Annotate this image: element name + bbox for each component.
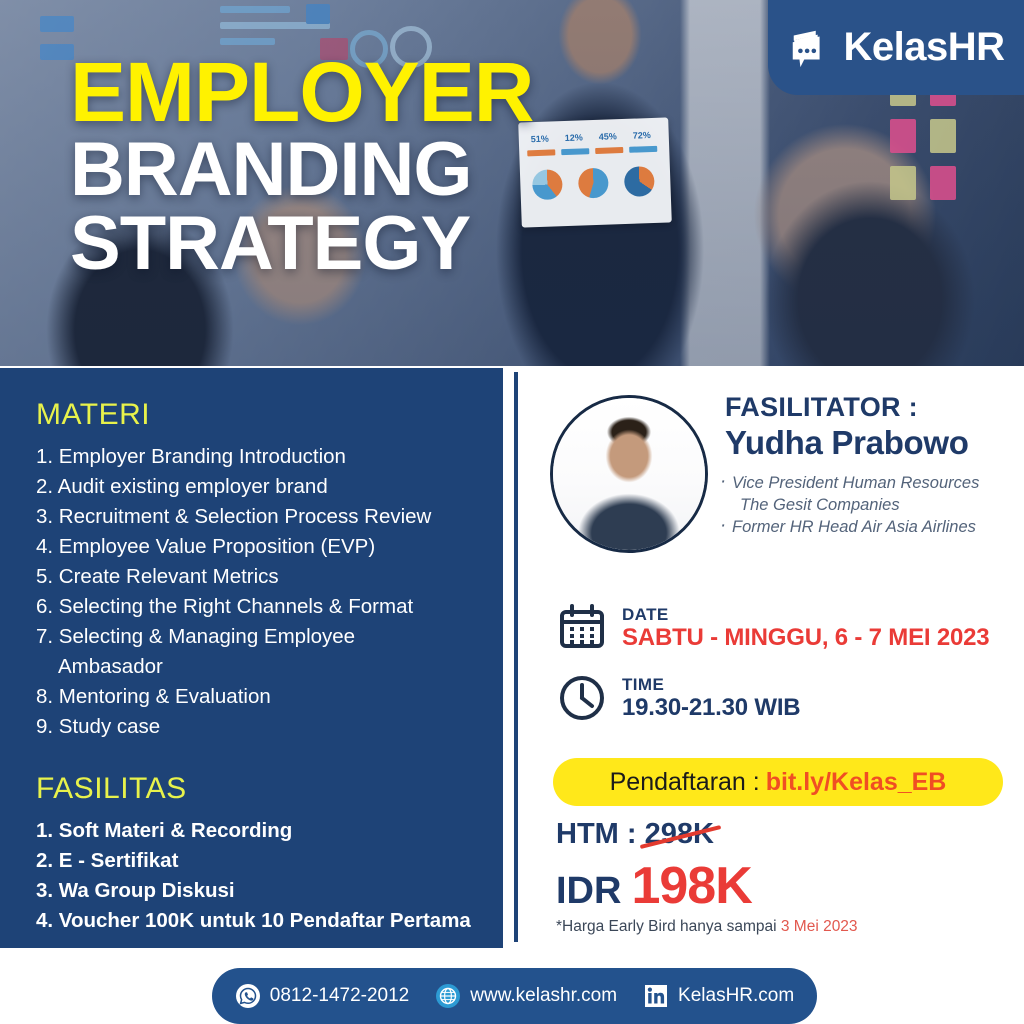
panel-divider <box>514 372 518 942</box>
list-item: 3. Recruitment & Selection Process Revie… <box>36 502 498 532</box>
avatar-image <box>553 398 705 550</box>
hero-banner: 51% 12% 45% 72% EMPLOYER BRANDING STRATE… <box>0 0 1024 366</box>
fasilitas-list: 1. Soft Materi & Recording 2. E - Sertif… <box>36 816 498 936</box>
list-item: 1. Soft Materi & Recording <box>36 816 498 846</box>
list-item: 2. E - Sertifikat <box>36 846 498 876</box>
contact-whatsapp[interactable]: 0812-1472-2012 <box>235 983 409 1009</box>
brand-logo-badge: KelasHR <box>768 0 1024 95</box>
right-content-panel: FASILITATOR : Yudha Prabowo Vice Preside… <box>520 368 1024 948</box>
note-date: 3 Mei 2023 <box>781 918 858 935</box>
registration-link[interactable]: bit.ly/Kelas_EB <box>766 768 947 797</box>
date-label: DATE <box>622 605 989 624</box>
list-item: 9. Study case <box>36 712 498 742</box>
facilitator-avatar <box>550 395 708 553</box>
hero-chart-card: 51% 12% 45% 72% <box>518 117 672 227</box>
facilitator-name: Yudha Prabowo <box>725 424 969 462</box>
sticky-note <box>890 119 916 153</box>
credential-line: Vice President Human Resources <box>720 472 1020 494</box>
htm-old-value: 298K <box>645 818 714 851</box>
facilitator-credentials: Vice President Human Resources The Gesit… <box>720 472 1020 538</box>
hero-title-line3: STRATEGY <box>70 209 533 279</box>
early-bird-note: *Harga Early Bird hanya sampai 3 Mei 202… <box>556 918 858 936</box>
sticky-note <box>930 119 956 153</box>
time-value: 19.30-21.30 WIB <box>622 694 800 721</box>
registration-label: Pendaftaran : <box>610 768 760 797</box>
sticky-note <box>890 166 916 200</box>
list-item: 1. Employer Branding Introduction <box>36 442 498 472</box>
website-url: www.kelashr.com <box>470 985 617 1007</box>
list-item: 2. Audit existing employer brand <box>36 472 498 502</box>
linkedin-handle: KelasHR.com <box>678 985 794 1007</box>
globe-icon <box>435 983 461 1009</box>
poster: 51% 12% 45% 72% EMPLOYER BRANDING STRATE… <box>0 0 1024 1024</box>
current-price: IDR 198K <box>556 856 752 916</box>
whatsapp-icon <box>235 983 261 1009</box>
brand-logo-text: KelasHR <box>843 25 1004 70</box>
registration-pill[interactable]: Pendaftaran : bit.ly/Kelas_EB <box>553 758 1003 806</box>
list-item: 6. Selecting the Right Channels & Format <box>36 592 498 622</box>
hero-title-line1: EMPLOYER <box>70 54 533 131</box>
book-chat-icon <box>787 25 833 71</box>
contact-footer: 0812-1472-2012 www.kelashr.com <box>212 968 817 1024</box>
list-item: 7. Selecting & Managing Employee <box>36 622 498 652</box>
list-item: 8. Mentoring & Evaluation <box>36 682 498 712</box>
materi-list: 1. Employer Branding Introduction 2. Aud… <box>36 442 498 742</box>
list-item: 4. Voucher 100K untuk 10 Pendaftar Perta… <box>36 906 498 936</box>
calendar-icon <box>556 602 608 654</box>
clock-icon <box>556 672 608 724</box>
currency-label: IDR <box>556 870 621 913</box>
note-prefix: *Harga Early Bird hanya sampai <box>556 918 781 935</box>
htm-label: HTM : <box>556 818 645 850</box>
list-item-continuation: Ambasador <box>36 652 498 682</box>
date-value: SABTU - MINGGU, 6 - 7 MEI 2023 <box>622 624 989 651</box>
fasilitas-heading: FASILITAS <box>36 772 187 806</box>
credential-line-cont: The Gesit Companies <box>720 494 1020 516</box>
phone-number: 0812-1472-2012 <box>270 985 409 1007</box>
linkedin-icon <box>643 983 669 1009</box>
list-item: 5. Create Relevant Metrics <box>36 562 498 592</box>
left-content-panel: MATERI 1. Employer Branding Introduction… <box>0 368 503 948</box>
contact-linkedin[interactable]: KelasHR.com <box>643 983 794 1009</box>
facilitator-label: FASILITATOR : <box>725 392 918 423</box>
materi-heading: MATERI <box>36 398 150 432</box>
date-row: DATE SABTU - MINGGU, 6 - 7 MEI 2023 <box>556 602 989 654</box>
hero-title-line2: BRANDING <box>70 135 533 205</box>
hero-title: EMPLOYER BRANDING STRATEGY <box>70 54 533 279</box>
old-price: HTM : 298K <box>556 818 714 851</box>
time-row: TIME 19.30-21.30 WIB <box>556 672 800 724</box>
contact-website[interactable]: www.kelashr.com <box>435 983 617 1009</box>
list-item: 4. Employee Value Proposition (EVP) <box>36 532 498 562</box>
price-amount: 198K <box>631 856 751 916</box>
list-item: 3. Wa Group Diskusi <box>36 876 498 906</box>
sticky-note <box>930 166 956 200</box>
credential-line: Former HR Head Air Asia Airlines <box>720 516 1020 538</box>
time-label: TIME <box>622 675 800 694</box>
